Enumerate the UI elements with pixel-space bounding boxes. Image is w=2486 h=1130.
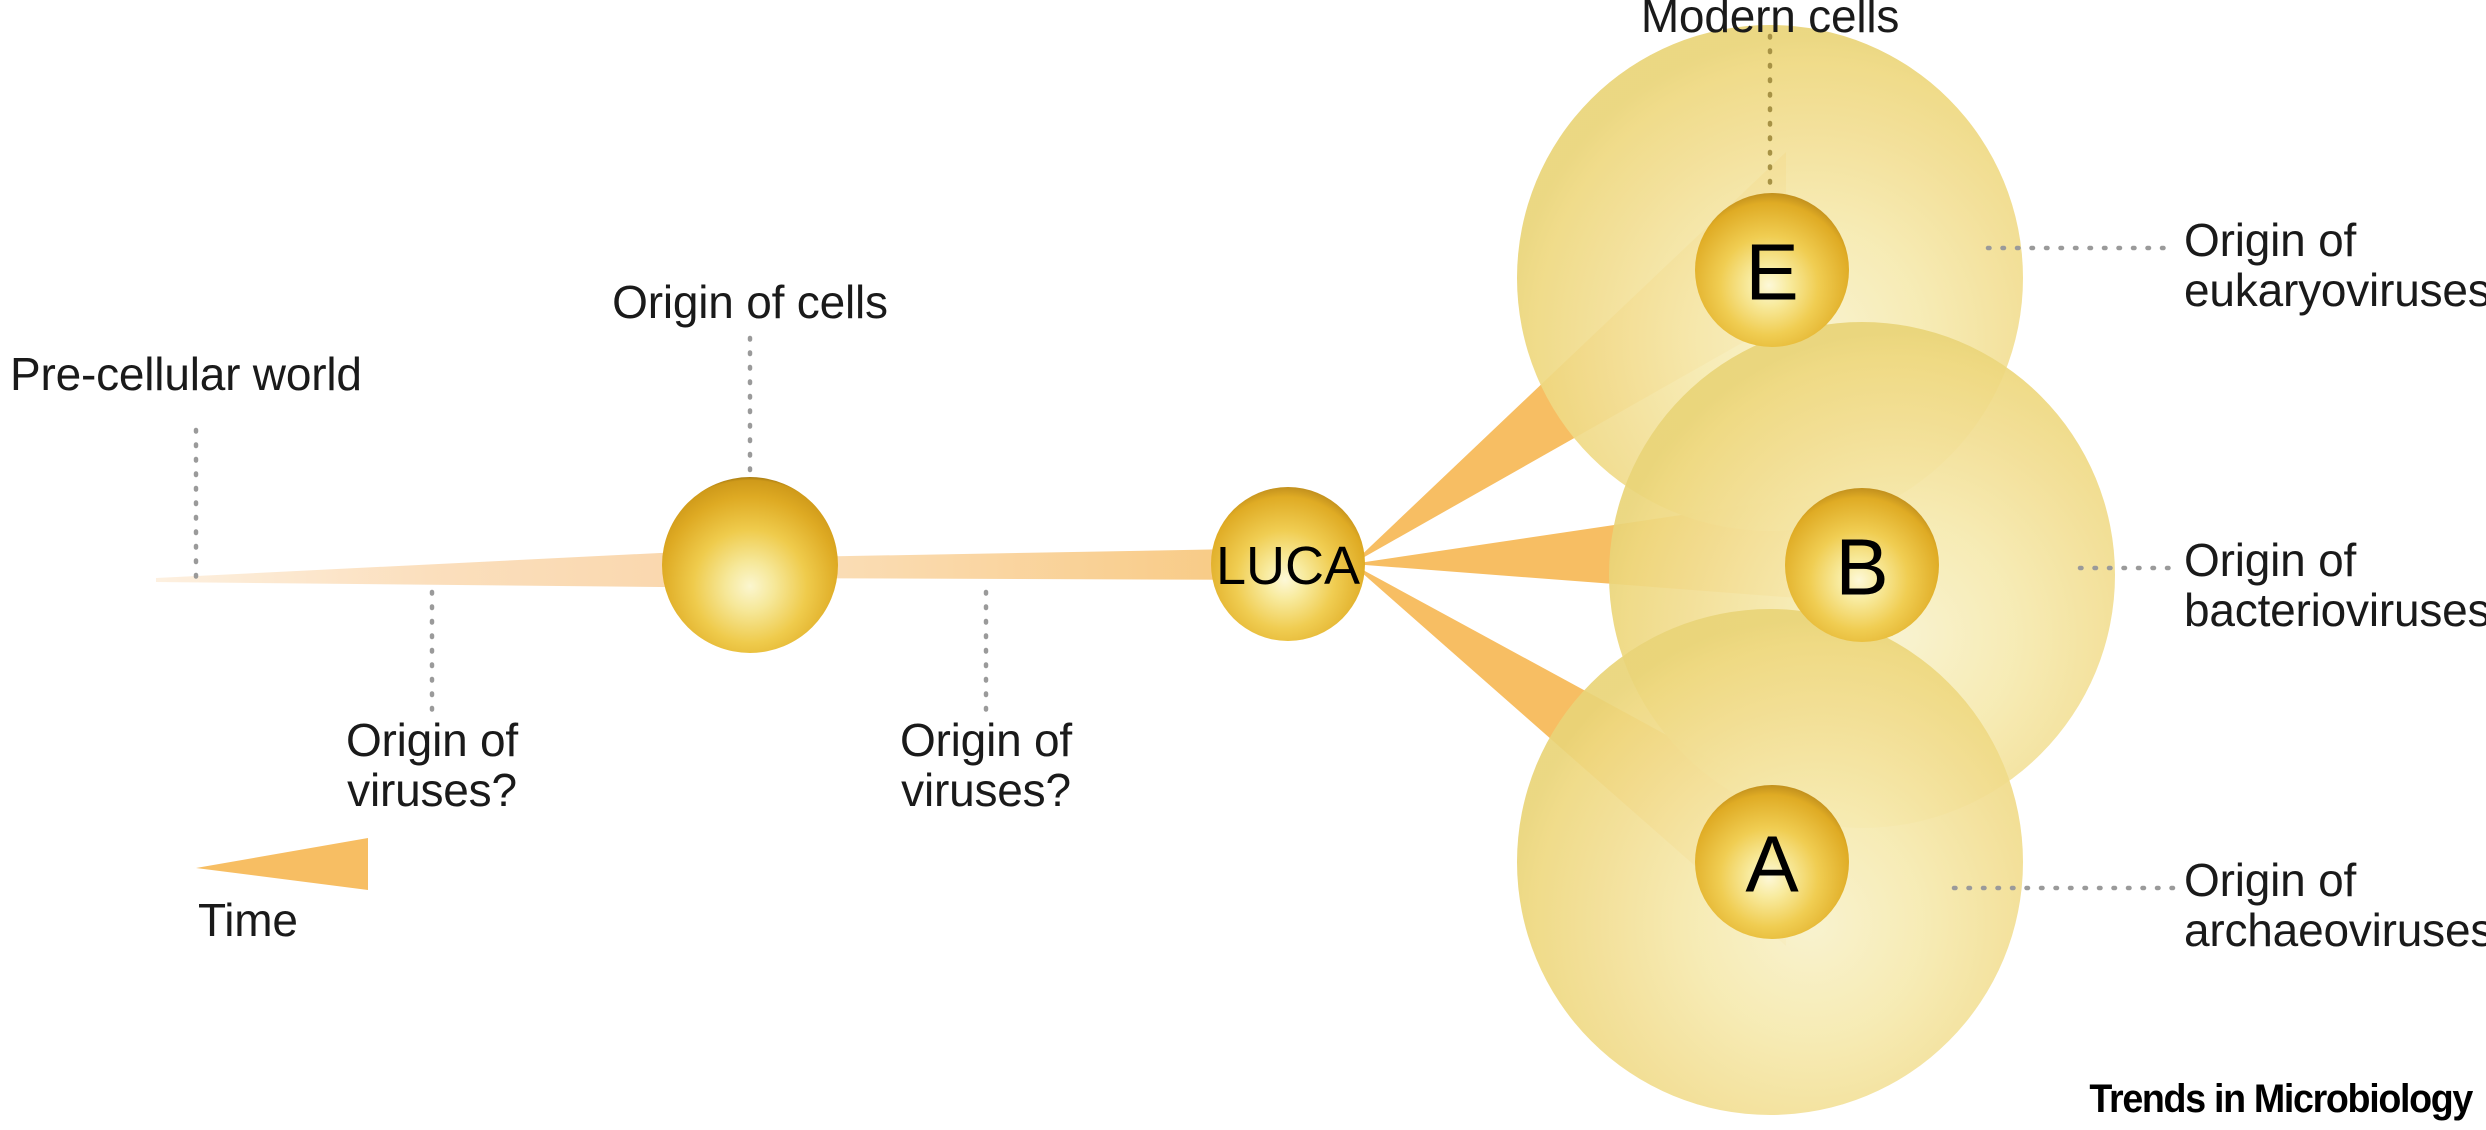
figure-canvas: LUCA E B A Pre-cellular world Origin of … <box>0 0 2486 1130</box>
evolution-diagram-svg: LUCA E B A <box>0 0 2486 1130</box>
journal-credit: Trends in Microbiology <box>2089 1077 2472 1122</box>
sphere-label-eukarya: E <box>1745 228 1798 317</box>
time-legend-arrow <box>196 838 368 890</box>
label-origin-of-bacterioviruses: Origin of bacterioviruses? <box>2184 536 2486 635</box>
label-modern-cells: Modern cells <box>1610 0 1930 42</box>
label-pre-cellular-world: Pre-cellular world <box>10 350 362 400</box>
sphere-label-archaea: A <box>1745 820 1799 909</box>
label-origin-of-viruses-right: Origin of viruses? <box>826 716 1146 815</box>
sphere-protocell <box>662 477 838 653</box>
sphere-label-luca: LUCA <box>1216 536 1360 596</box>
sphere-label-bacteria: B <box>1835 523 1888 612</box>
label-time: Time <box>198 896 298 946</box>
label-origin-of-eukaryoviruses: Origin of eukaryoviruses? <box>2184 216 2486 315</box>
label-origin-of-archaeoviruses: Origin of archaeoviruses? <box>2184 856 2486 955</box>
label-origin-of-cells: Origin of cells <box>590 278 910 328</box>
label-origin-of-viruses-left: Origin of viruses? <box>272 716 592 815</box>
